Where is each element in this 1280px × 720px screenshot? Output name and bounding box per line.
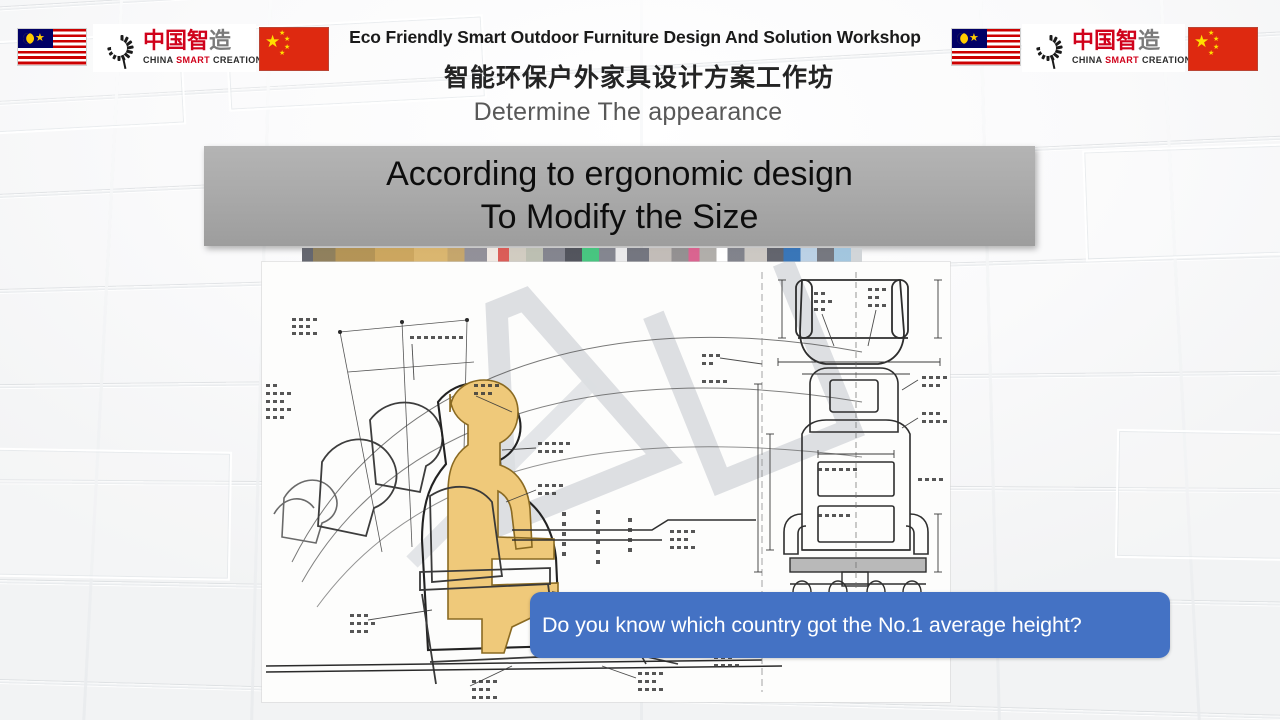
question-callout: Do you know which country got the No.1 a… xyxy=(530,592,1170,658)
sunburst-icon xyxy=(1028,28,1068,68)
banner-line-2: To Modify the Size xyxy=(481,197,759,238)
brand-en-creation: CREATION xyxy=(213,55,263,65)
brand-cn-2: 智 xyxy=(187,29,209,54)
china-smart-creation-logo-left: 中国智造 CHINA SMART CREATION xyxy=(93,24,256,72)
callout-question-text: Do you know which country got the No.1 a… xyxy=(530,613,1082,638)
slide-root: ★ 中国智造 xyxy=(0,0,1280,720)
workshop-title-cn: 智能环保户外家具设计方案工作坊 xyxy=(319,58,959,94)
brand-en-smart: SMART xyxy=(1105,55,1142,65)
malaysia-flag-right: ★ xyxy=(951,28,1021,66)
brand-cn-3: 造 xyxy=(1138,29,1160,54)
brand-cn-1: 中国 xyxy=(1072,29,1116,54)
header: ★ 中国智造 xyxy=(0,0,1280,100)
china-flag-right: ★ ★ ★ ★ ★ xyxy=(1188,27,1258,71)
brand-wordmark: 中国智造 CHINA SMART CREATION xyxy=(143,31,263,65)
brand-en-creation: CREATION xyxy=(1142,55,1192,65)
instruction-banner: According to ergonomic design To Modify … xyxy=(204,146,1035,246)
brand-wordmark: 中国智造 CHINA SMART CREATION xyxy=(1072,31,1192,65)
brand-en-smart: SMART xyxy=(176,55,213,65)
china-smart-creation-logo-right: 中国智造 CHINA SMART CREATION xyxy=(1022,24,1185,72)
brand-en-china: CHINA xyxy=(1072,55,1105,65)
section-subtitle: Determine The appearance xyxy=(0,98,1256,127)
banner-line-1: According to ergonomic design xyxy=(386,154,853,195)
brand-cn-3: 造 xyxy=(209,29,231,54)
brand-en-china: CHINA xyxy=(143,55,176,65)
sunburst-icon xyxy=(99,28,139,68)
workshop-title-en: Eco Friendly Smart Outdoor Furniture Des… xyxy=(315,27,955,48)
brand-cn-2: 智 xyxy=(1116,29,1138,54)
malaysia-flag-left: ★ xyxy=(17,28,87,66)
brand-cn-1: 中国 xyxy=(143,29,187,54)
